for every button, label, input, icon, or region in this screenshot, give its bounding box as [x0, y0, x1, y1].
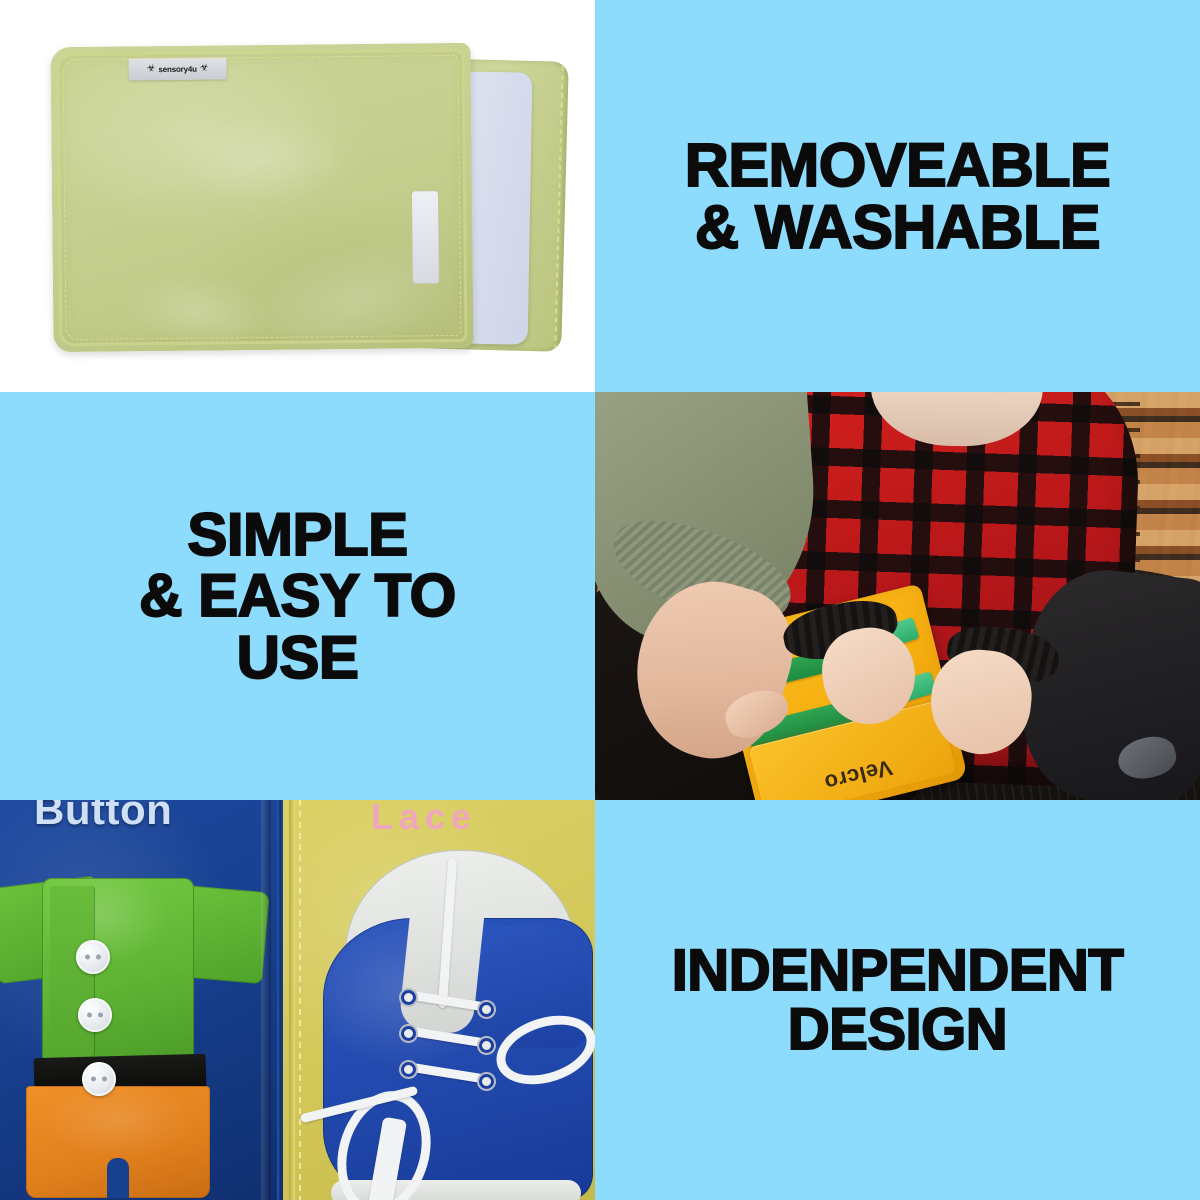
- shirt-button: [78, 998, 112, 1032]
- headline-line: REMOVEABLE: [685, 134, 1110, 196]
- panel-stitching: [299, 800, 301, 1200]
- shoe-eyelet: [401, 1062, 416, 1077]
- brand-label: ☣ sensory4u ☣: [129, 57, 227, 80]
- headline-line: SIMPLE: [139, 504, 456, 565]
- lace-panel-label: Lace: [371, 800, 477, 838]
- lace-activity-panel: Lace: [283, 800, 595, 1200]
- headline-line: & EASY TO: [139, 565, 456, 626]
- headline-panel-simple: SIMPLE & EASY TO USE: [0, 392, 595, 800]
- headline-independent-design: INDENPENDENT DESIGN: [672, 941, 1124, 1059]
- panel-edge: [277, 800, 281, 1200]
- felt-shirt: [42, 878, 194, 1060]
- handprint-icon: ☣: [200, 64, 209, 74]
- button-panel-label: Button: [34, 800, 172, 834]
- fabric-highlight: [119, 266, 277, 355]
- shoe-eyelet: [479, 1038, 494, 1053]
- shoe-eyelet: [479, 1074, 494, 1089]
- shirt-button: [76, 940, 110, 974]
- headline-line: INDENPENDENT: [672, 941, 1124, 1000]
- headline-line: & WASHABLE: [685, 196, 1110, 258]
- fabric-highlight: [244, 222, 473, 375]
- headline-panel-independent: INDENPENDENT DESIGN: [595, 800, 1200, 1200]
- shoe-eyelet: [479, 1002, 494, 1017]
- headline-line: USE: [139, 627, 456, 688]
- product-photo-panel: ☣ sensory4u ☣: [0, 0, 595, 392]
- child-using-board-photo-panel: Velcro: [595, 392, 1200, 800]
- removable-cover-photo: ☣ sensory4u ☣: [0, 0, 595, 392]
- brand-label-text: sensory4u: [158, 64, 196, 73]
- button-activity-panel: Button: [0, 800, 283, 1200]
- belt-button: [82, 1062, 116, 1096]
- panel-seam: [289, 800, 295, 1200]
- fabric-highlight: [171, 114, 352, 206]
- shoe-eyelet: [401, 1026, 416, 1041]
- headline-simple-easy-to-use: SIMPLE & EASY TO USE: [139, 504, 456, 688]
- headline-panel-removeable: REMOVEABLE & WASHABLE: [595, 0, 1200, 392]
- headline-line: DESIGN: [672, 1000, 1124, 1059]
- body-velcro-strip: [412, 191, 439, 283]
- headline-removeable-washable: REMOVEABLE & WASHABLE: [685, 134, 1110, 258]
- felt-shorts: [26, 1086, 210, 1198]
- shoe-eyelet: [401, 990, 416, 1005]
- cover-body: ☣ sensory4u ☣: [50, 43, 473, 352]
- handprint-icon: ☣: [147, 64, 156, 74]
- panel-seam: [261, 800, 271, 1200]
- infographic-collage: ☣ sensory4u ☣ REMOVEABLE & WASHABLE SIMP…: [0, 0, 1200, 1200]
